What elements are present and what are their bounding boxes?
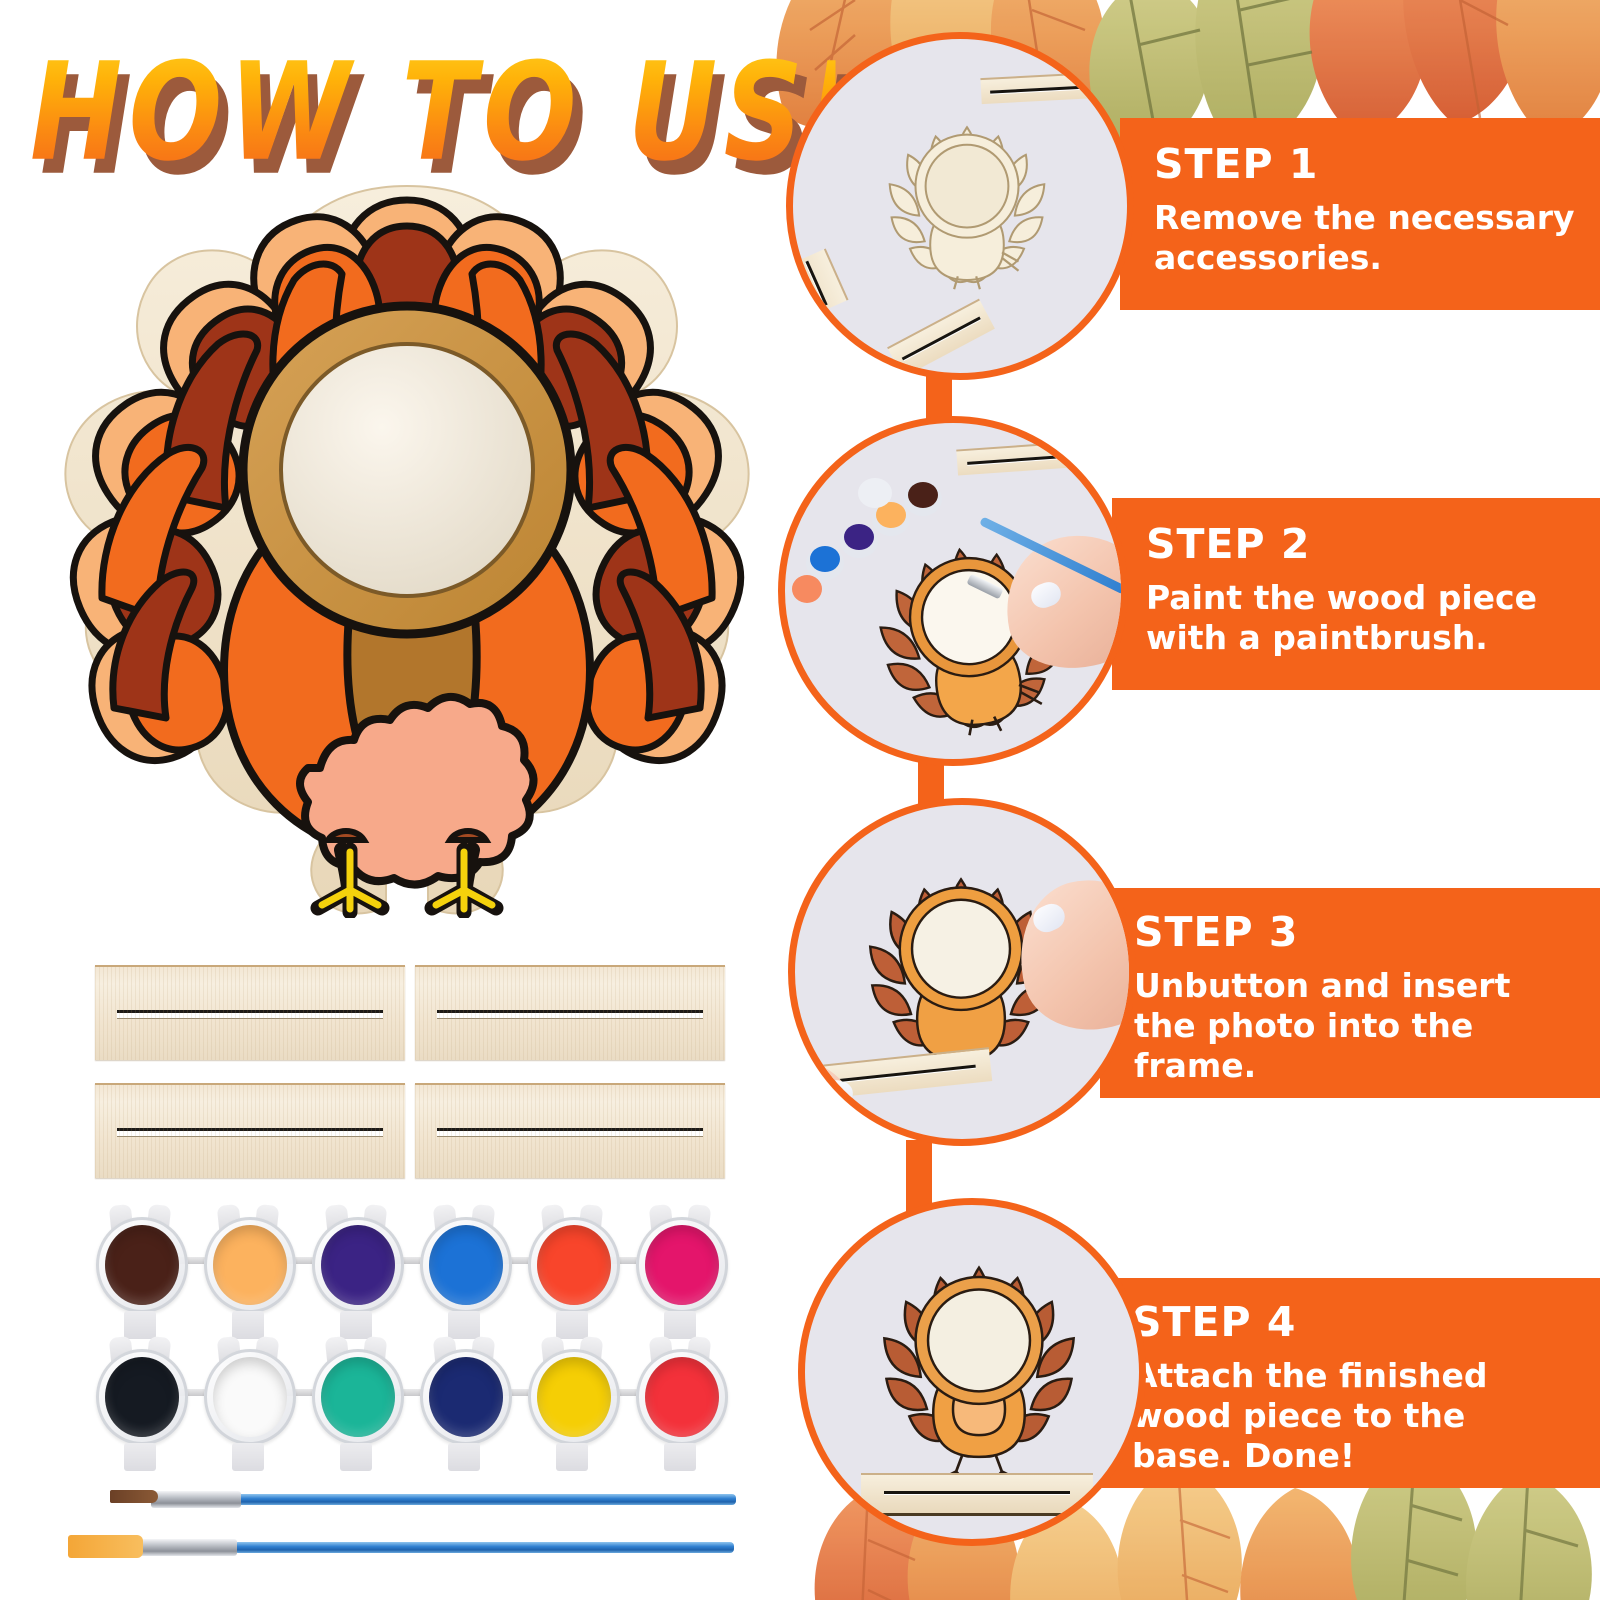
step-number-2: STEP 2 <box>1146 524 1576 565</box>
paint-pot-red <box>632 1337 730 1449</box>
paint-pot-red-orange <box>524 1205 622 1317</box>
page-title: HOW TO USE HOW TO USE <box>30 34 790 174</box>
step-band-4: STEP 4 Attach the finished wood piece to… <box>1098 1278 1600 1488</box>
paint-pot-light-orange <box>200 1205 298 1317</box>
step-number-1: STEP 1 <box>1154 144 1576 185</box>
step-band-1: STEP 1 Remove the necessary accessories. <box>1120 118 1600 310</box>
step-number-3: STEP 3 <box>1134 912 1576 953</box>
photo-frame-ring <box>243 306 571 634</box>
thin-round-paintbrush <box>96 1486 736 1512</box>
step-text-2: Paint the wood piece with a paintbrush. <box>1146 578 1576 658</box>
paint-pot-row-2 <box>92 1337 737 1455</box>
step-text-3: Unbutton and insert the photo into the f… <box>1134 966 1576 1086</box>
paint-pot-yellow <box>524 1337 622 1449</box>
infographic-page: HOW TO USE HOW TO USE <box>0 0 1600 1600</box>
paint-pot-navy-blue <box>416 1337 514 1449</box>
wooden-display-base <box>861 1473 1093 1513</box>
step-photo-3 <box>788 798 1136 1146</box>
brush-bristles <box>68 1535 143 1558</box>
page-title-text: HOW TO USE <box>30 34 836 190</box>
paint-pot-dark-brown <box>92 1205 190 1317</box>
step-number-4: STEP 4 <box>1132 1302 1576 1343</box>
step-band-3: STEP 3 Unbutton and insert the photo int… <box>1100 888 1600 1098</box>
paint-pot-teal-green <box>308 1337 406 1449</box>
step-photo-2 <box>778 416 1128 766</box>
unpainted-wood-turkey <box>890 127 1045 289</box>
wooden-base-strip <box>415 1083 725 1178</box>
paint-pot-magenta <box>632 1205 730 1317</box>
wide-flat-paintbrush <box>62 1534 734 1560</box>
step-photo-4 <box>798 1198 1146 1546</box>
wooden-base-strips-group <box>95 965 730 1180</box>
step-band-2: STEP 2 Paint the wood piece with a paint… <box>1112 498 1600 690</box>
finished-turkey-frame <box>884 1268 1073 1480</box>
brush-bristles <box>110 1490 158 1503</box>
step-text-1: Remove the necessary accessories. <box>1154 198 1576 278</box>
wooden-base-strip <box>95 1083 405 1178</box>
paint-pot-blue <box>416 1205 514 1317</box>
paint-pot-black <box>92 1337 190 1449</box>
paint-pot-row-1 <box>92 1205 737 1323</box>
step-photo-1 <box>786 32 1134 380</box>
paint-pot-white <box>200 1337 298 1449</box>
wooden-base-strip <box>95 965 405 1060</box>
paint-pot-purple <box>308 1205 406 1317</box>
main-turkey-illustration <box>42 178 772 918</box>
step-text-4: Attach the finished wood piece to the ba… <box>1132 1356 1576 1476</box>
wooden-base-strip <box>415 965 725 1060</box>
